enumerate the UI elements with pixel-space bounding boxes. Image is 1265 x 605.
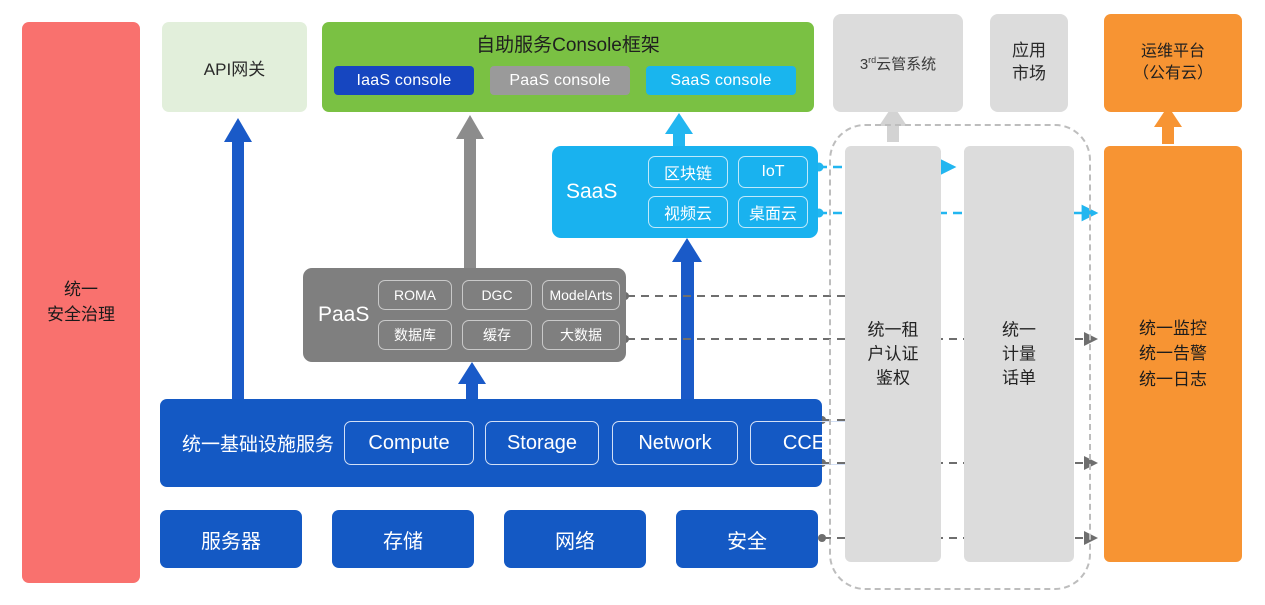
- saas-tag-blockchain[interactable]: 区块链: [648, 156, 728, 188]
- resource-box-network[interactable]: 网络: [504, 510, 646, 568]
- third-party-cloud-mgmt-label: 3rd云管系统: [860, 53, 936, 74]
- resource-box-label: 安全: [727, 525, 767, 554]
- resource-box-security[interactable]: 安全: [676, 510, 818, 568]
- resource-box-label: 服务器: [201, 525, 261, 554]
- security-link-dot: [818, 534, 826, 542]
- infra-tag-network[interactable]: Network: [612, 421, 738, 465]
- ops-platform-box[interactable]: 运维平台 （公有云）: [1104, 14, 1242, 112]
- saas-console-chip[interactable]: SaaS console: [646, 66, 796, 95]
- paas-tag-roma[interactable]: ROMA: [378, 280, 452, 310]
- arrow-infra-to-saas: [672, 238, 702, 402]
- saas-tag-label: IoT: [761, 163, 784, 181]
- saas-tag-desktop-cloud[interactable]: 桌面云: [738, 196, 808, 228]
- third-party-superscript: rd: [868, 55, 876, 65]
- paas-block: PaaS ROMA DGC ModelArts 数据库 缓存 大数据: [303, 268, 626, 362]
- paas-tag-modelarts[interactable]: ModelArts: [542, 280, 620, 310]
- paas-tag-dgc[interactable]: DGC: [462, 280, 532, 310]
- paas-console-chip[interactable]: PaaS console: [490, 66, 630, 95]
- iaas-console-chip[interactable]: IaaS console: [334, 66, 474, 95]
- saas-tag-label: 视频云: [664, 200, 712, 224]
- app-market-label: 应用 市场: [1012, 40, 1046, 86]
- api-gateway-box[interactable]: API网关: [162, 22, 307, 112]
- unified-monitoring-label: 统一监控 统一告警 统一日志: [1139, 316, 1207, 393]
- unified-tenant-auth-label: 统一租 户认证 鉴权: [845, 318, 941, 389]
- infra-tag-label: Network: [638, 432, 711, 455]
- saas-block-label: SaaS: [566, 180, 617, 204]
- arrow-infra-to-apigw: [224, 118, 252, 400]
- saas-tag-iot[interactable]: IoT: [738, 156, 808, 188]
- third-party-cloud-mgmt-box[interactable]: 3rd云管系统: [833, 14, 963, 112]
- saas-tag-video-cloud[interactable]: 视频云: [648, 196, 728, 228]
- paas-tag-database[interactable]: 数据库: [378, 320, 452, 350]
- infra-tag-label: Storage: [507, 432, 577, 455]
- api-gateway-label: API网关: [204, 55, 265, 80]
- console-frame-title: 自助服务Console框架: [322, 30, 814, 57]
- paas-tag-label: 缓存: [483, 325, 511, 345]
- self-service-console-frame: 自助服务Console框架 IaaS console PaaS console …: [322, 22, 814, 112]
- resource-box-storage[interactable]: 存储: [332, 510, 474, 568]
- resource-box-server[interactable]: 服务器: [160, 510, 302, 568]
- unified-monitoring-pillar: 统一监控 统一告警 统一日志: [1104, 146, 1242, 562]
- ops-platform-label: 运维平台 （公有云）: [1133, 41, 1213, 86]
- infra-tag-label: Compute: [368, 432, 449, 455]
- resource-box-label: 网络: [555, 525, 595, 554]
- app-market-box[interactable]: 应用 市场: [990, 14, 1068, 112]
- paas-tag-label: 大数据: [560, 325, 602, 345]
- architecture-diagram: 统一 安全治理 API网关 自助服务Console框架 IaaS console…: [0, 0, 1265, 605]
- iaas-console-label: IaaS console: [357, 72, 452, 90]
- unified-security-pillar: 统一 安全治理: [22, 22, 140, 583]
- infra-tag-compute[interactable]: Compute: [344, 421, 474, 465]
- saas-block: SaaS 区块链 IoT 视频云 桌面云: [552, 146, 818, 238]
- arrow-saas-to-console: [665, 113, 693, 150]
- paas-tag-label: ModelArts: [549, 287, 612, 303]
- paas-tag-cache[interactable]: 缓存: [462, 320, 532, 350]
- unified-infrastructure-bar: 统一基础设施服务 Compute Storage Network CCE: [160, 399, 822, 487]
- saas-tag-label: 区块链: [664, 160, 712, 184]
- unified-metering-label: 统一 计量 话单: [964, 318, 1074, 389]
- arrow-paas-to-console: [456, 115, 484, 270]
- paas-tag-label: ROMA: [394, 287, 436, 303]
- paas-tag-bigdata[interactable]: 大数据: [542, 320, 620, 350]
- arrow-infra-to-paas: [458, 362, 486, 402]
- resource-box-label: 存储: [383, 525, 423, 554]
- saas-tag-label: 桌面云: [749, 200, 797, 224]
- paas-tag-label: 数据库: [394, 325, 436, 345]
- unified-infrastructure-label: 统一基础设施服务: [182, 430, 334, 457]
- paas-console-label: PaaS console: [509, 72, 610, 90]
- unified-security-label: 统一 安全治理: [47, 278, 115, 327]
- infra-tag-storage[interactable]: Storage: [485, 421, 599, 465]
- saas-console-label: SaaS console: [670, 72, 771, 90]
- infra-tag-label: CCE: [783, 432, 825, 455]
- unified-metering-pillar: 统一 计量 话单: [964, 146, 1074, 562]
- unified-tenant-auth-pillar: 统一租 户认证 鉴权: [845, 146, 941, 562]
- paas-tag-label: DGC: [481, 287, 512, 303]
- paas-block-label: PaaS: [318, 303, 369, 327]
